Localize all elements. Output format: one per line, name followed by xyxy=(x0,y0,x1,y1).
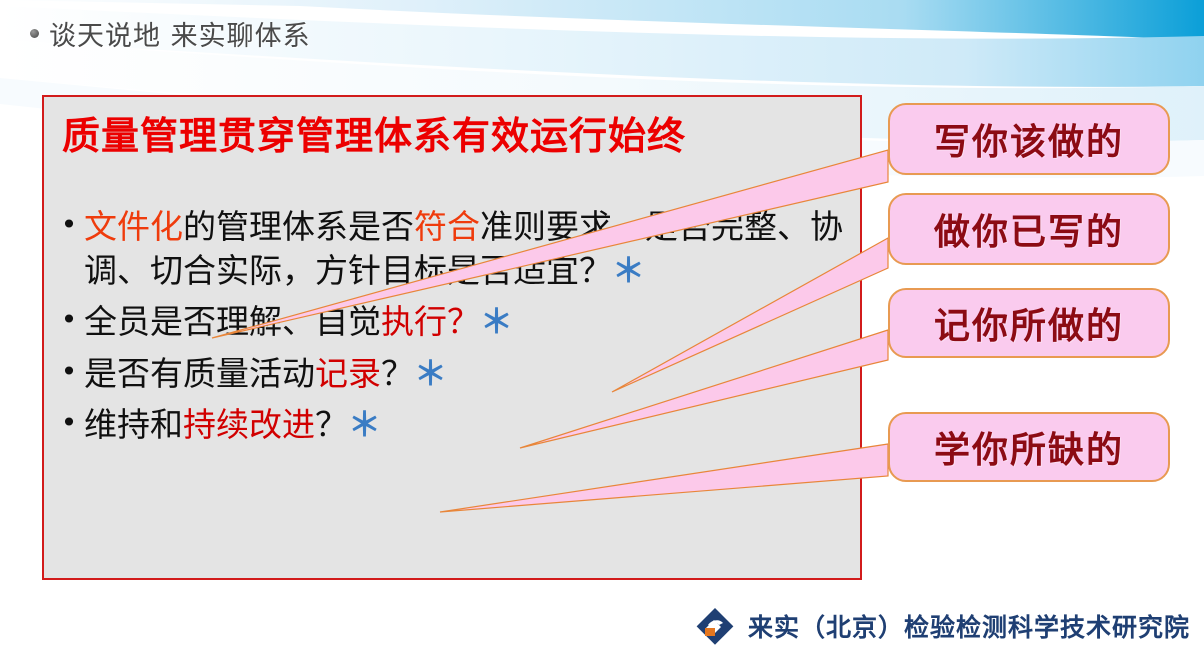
bullet-plain: ？ xyxy=(381,354,414,393)
content-panel: 质量管理贯穿管理体系有效运行始终 • 文件化的管理体系是否符合准则要求，是否完整… xyxy=(42,95,862,580)
list-item: • 维持和持续改进？＊ xyxy=(54,403,854,447)
bullet-emphasis: 持续改进 xyxy=(183,405,315,444)
callout-box-2[interactable]: 做你已写的 xyxy=(888,193,1170,265)
callout-label: 写你该做的 xyxy=(934,113,1124,165)
footer: 来实（北京）检验检测科学技术研究院 xyxy=(694,605,1190,647)
asterisk-marker: ＊ xyxy=(480,302,513,341)
slide-canvas: 谈天说地 来实聊体系 质量管理贯穿管理体系有效运行始终 • 文件化的管理体系是否… xyxy=(0,0,1204,657)
bullet-plain: 维持和 xyxy=(84,405,183,444)
list-item: • 是否有质量活动记录？＊ xyxy=(54,352,854,396)
callout-label: 记你所做的 xyxy=(934,297,1124,349)
callout-box-3[interactable]: 记你所做的 xyxy=(888,288,1170,358)
header-title: 谈天说地 来实聊体系 xyxy=(49,14,311,53)
bullet-emphasis: 符合 xyxy=(414,207,480,246)
bullet-emphasis: 记录 xyxy=(315,354,381,393)
page-title: 质量管理贯穿管理体系有效运行始终 xyxy=(62,105,852,160)
asterisk-marker: ＊ xyxy=(612,251,645,290)
bullet-plain: 是否有质量活动 xyxy=(84,354,315,393)
bullet-mark: • xyxy=(54,403,84,444)
bullet-plain: 的管理体系是否 xyxy=(183,207,414,246)
bullet-emphasis: 执行？ xyxy=(381,302,480,341)
bullet-mark: • xyxy=(54,352,84,393)
bullet-list: • 文件化的管理体系是否符合准则要求，是否完整、协调、切合实际，方针目标是否适宜… xyxy=(54,205,854,455)
callout-box-1[interactable]: 写你该做的 xyxy=(888,103,1170,175)
list-item: • 全员是否理解、自觉执行？＊ xyxy=(54,300,854,344)
asterisk-marker: ＊ xyxy=(348,405,381,444)
asterisk-marker: ＊ xyxy=(414,354,447,393)
callout-label: 做你已写的 xyxy=(934,203,1124,255)
diamond-logo-icon xyxy=(694,605,736,647)
bullet-text: 维持和持续改进？＊ xyxy=(84,403,854,447)
bullet-plain: 全员是否理解、自觉 xyxy=(84,302,381,341)
bullet-mark: • xyxy=(54,300,84,341)
org-name: 来实（北京）检验检测科学技术研究院 xyxy=(748,608,1190,644)
bullet-plain: ？ xyxy=(315,405,348,444)
bullet-mark: • xyxy=(54,205,84,246)
callout-box-4[interactable]: 学你所缺的 xyxy=(888,412,1170,482)
bullet-emphasis: 文件化 xyxy=(84,207,183,246)
bullet-text: 全员是否理解、自觉执行？＊ xyxy=(84,300,854,344)
bullet-text: 文件化的管理体系是否符合准则要求，是否完整、协调、切合实际，方针目标是否适宜？＊ xyxy=(84,205,854,292)
callout-label: 学你所缺的 xyxy=(934,421,1124,473)
circle-bullet-icon xyxy=(30,29,39,38)
bullet-text: 是否有质量活动记录？＊ xyxy=(84,352,854,396)
list-item: • 文件化的管理体系是否符合准则要求，是否完整、协调、切合实际，方针目标是否适宜… xyxy=(54,205,854,292)
slide-header: 谈天说地 来实聊体系 xyxy=(30,14,311,53)
